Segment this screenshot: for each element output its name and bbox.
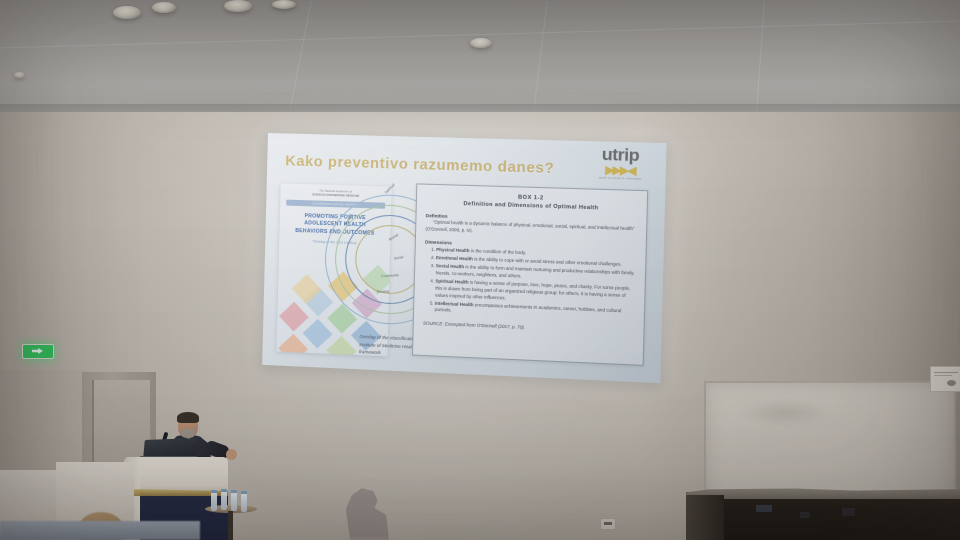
screen-vignette: [262, 133, 666, 383]
console-side-panel: [686, 495, 724, 540]
ceiling: [0, 0, 960, 112]
emergency-exit-sign: [22, 344, 54, 359]
av-console-desk: [686, 492, 960, 540]
ceiling-light: [470, 38, 492, 48]
ceiling-light: [113, 6, 141, 19]
console-equipment-light: [756, 505, 772, 512]
water-bottle: [221, 489, 227, 510]
water-bottle: [231, 490, 237, 511]
ceiling-light: [152, 2, 176, 13]
side-table-leg: [228, 511, 233, 540]
ceiling-light: [224, 0, 252, 12]
ceiling-light: [14, 72, 25, 78]
wall-outlet: [600, 518, 616, 530]
projection-screen: Kako preventivo razumemo danes? utrip ▶▶…: [262, 133, 666, 383]
console-equipment-light: [842, 508, 855, 516]
presenter-hair: [177, 412, 199, 423]
console-equipment-light: [800, 512, 810, 518]
ceiling-light: [272, 0, 296, 9]
water-bottle: [211, 490, 217, 511]
presenter-hand: [226, 449, 237, 460]
wall-notice-sign: [930, 366, 960, 392]
presenter-beard: [181, 429, 195, 438]
lecture-hall-photo: Kako preventivo razumemo danes? utrip ▶▶…: [0, 0, 960, 540]
foreground-seat-back: [0, 521, 200, 540]
water-bottle: [241, 491, 247, 512]
whiteboard-smudge: [740, 400, 830, 426]
